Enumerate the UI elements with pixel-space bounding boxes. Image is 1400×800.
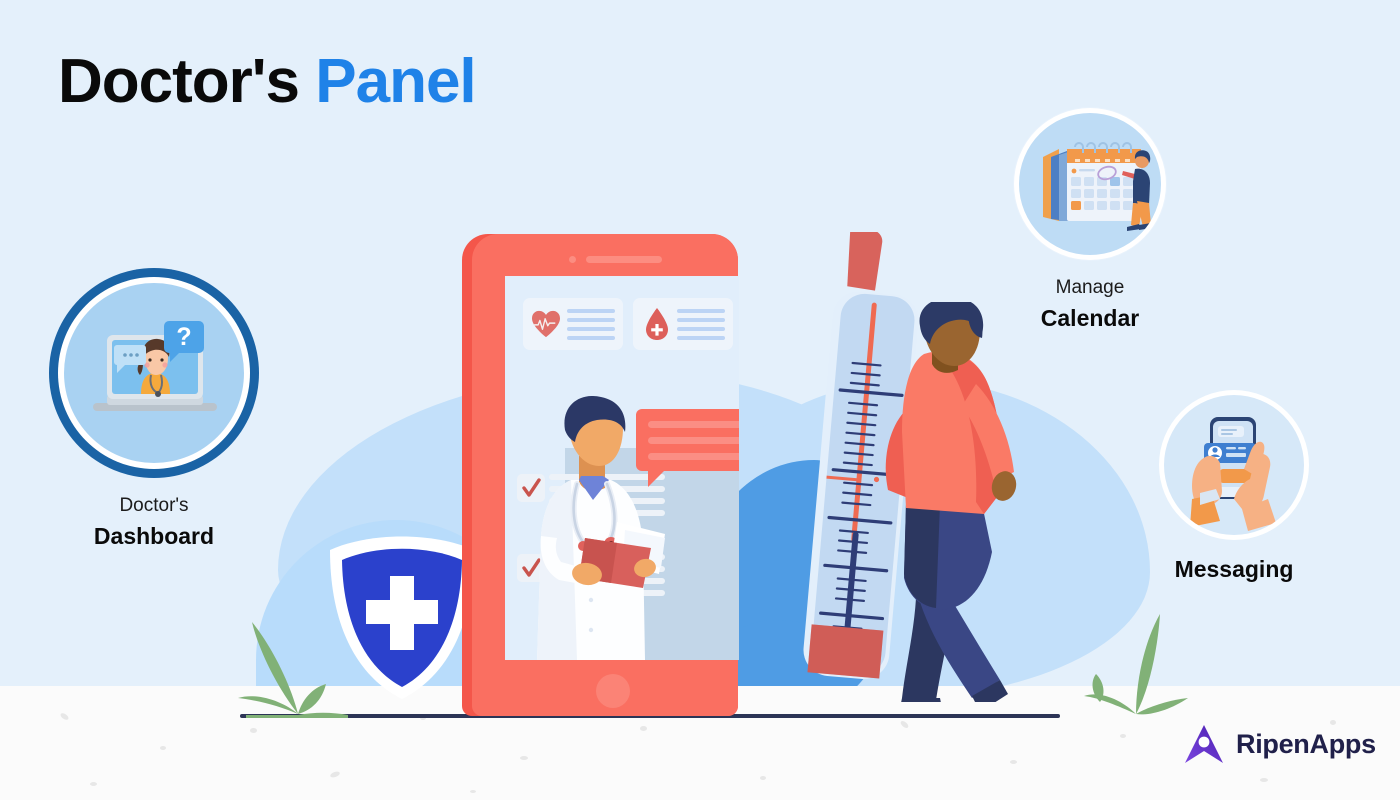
chat-bubble-tail	[648, 471, 664, 487]
info-card-blood[interactable]	[633, 298, 733, 350]
feature-messaging-label-bottom: Messaging	[1148, 554, 1320, 585]
walking-person-figure	[880, 302, 1030, 702]
feature-calendar-label-top: Manage	[985, 274, 1195, 303]
heart-pulse-icon	[531, 310, 561, 338]
feature-dashboard-label-top: Doctor's	[24, 492, 284, 521]
feature-dashboard-labels: Doctor's Dashboard	[24, 492, 284, 552]
phone-camera-dot	[569, 256, 576, 263]
feature-dashboard-circle: ?	[49, 268, 259, 478]
info-card-heart-lines	[567, 309, 615, 345]
feature-calendar-illustration	[1019, 113, 1161, 255]
page-title-part2: Panel	[315, 47, 475, 116]
phone-home-button[interactable]	[596, 674, 630, 708]
medical-shield-icon	[322, 528, 482, 703]
phone-screen	[505, 276, 739, 660]
feature-messaging[interactable]: Messaging	[1148, 390, 1320, 585]
feature-messaging-illustration	[1164, 395, 1304, 535]
feature-dashboard[interactable]: ? Doctor's Dashboard	[24, 268, 284, 552]
wall-calendar-icon	[1019, 113, 1161, 255]
poster-canvas: Doctor's Panel	[0, 0, 1400, 800]
info-card-heart[interactable]	[523, 298, 623, 350]
svg-text:?: ?	[176, 323, 191, 351]
brand-logo[interactable]: RipenApps	[1183, 723, 1376, 765]
feature-dashboard-label-bottom: Dashboard	[24, 521, 284, 552]
hands-holding-phone-chat-icon	[1164, 395, 1304, 535]
info-card-blood-lines	[677, 309, 725, 345]
phone-body	[472, 234, 738, 716]
phone-speaker	[586, 256, 662, 263]
brand-name: RipenApps	[1236, 729, 1376, 760]
feature-calendar-label-bottom: Calendar	[985, 303, 1195, 334]
feature-messaging-labels: Messaging	[1148, 554, 1320, 585]
page-title: Doctor's Panel	[58, 48, 476, 116]
leaf-plant-right	[1078, 602, 1198, 718]
blood-drop-plus-icon	[645, 307, 669, 341]
ripenapps-arrow-logo	[1183, 723, 1225, 765]
smartphone-mockup	[462, 234, 738, 716]
feature-dashboard-illustration: ?	[64, 283, 244, 463]
laptop-video-consult-icon: ?	[65, 283, 243, 461]
page-title-part1: Doctor's	[58, 47, 299, 116]
feature-calendar[interactable]: Manage Calendar	[985, 108, 1195, 334]
chat-bubble	[636, 409, 739, 471]
feature-calendar-labels: Manage Calendar	[985, 274, 1195, 334]
ring-white: ?	[58, 277, 250, 469]
feature-calendar-circle	[1014, 108, 1166, 260]
feature-messaging-circle	[1159, 390, 1309, 540]
